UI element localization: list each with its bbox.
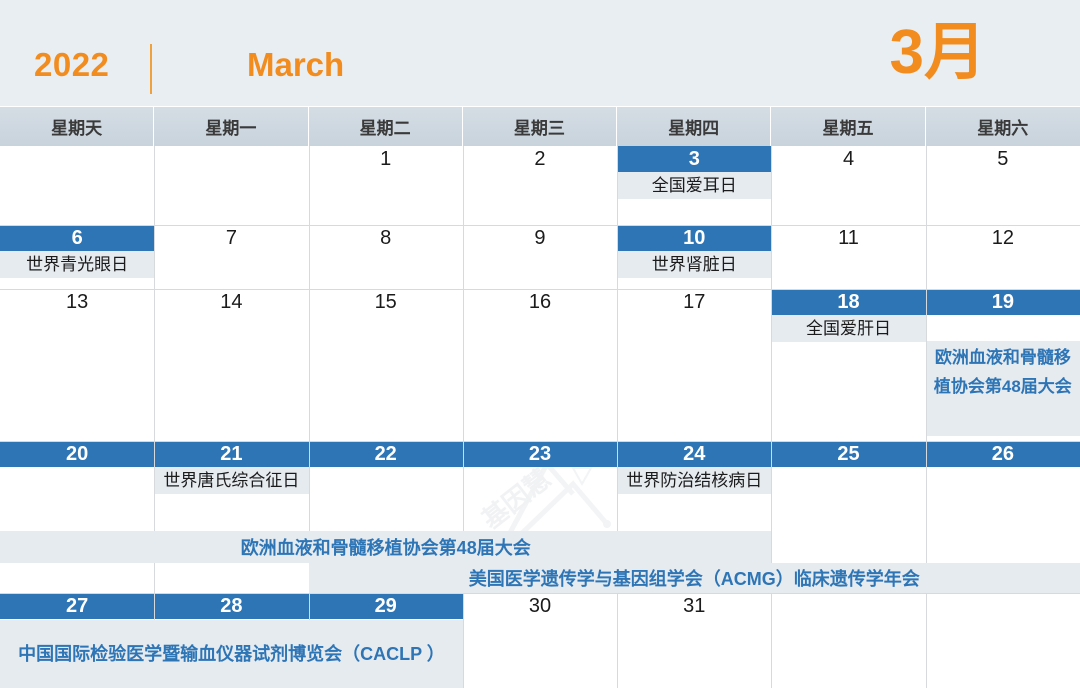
day-cell[interactable]: 7	[154, 225, 308, 289]
day-cell[interactable]: 15	[309, 289, 463, 441]
day-number: 28	[154, 593, 308, 619]
day-number: 31	[617, 593, 771, 619]
day-number: 4	[771, 146, 925, 172]
day-cell[interactable]: 18全国爱肝日	[771, 289, 925, 441]
day-number: 2	[463, 146, 617, 172]
day-cell[interactable]: 9	[463, 225, 617, 289]
column-divider	[771, 146, 772, 688]
day-cell[interactable]: 13	[0, 289, 154, 441]
row-divider	[0, 289, 1080, 290]
day-number: 6	[0, 225, 154, 251]
day-number: 3	[617, 146, 771, 172]
day-cell[interactable]: 11	[771, 225, 925, 289]
weekday-header-3: 星期三	[463, 107, 617, 146]
day-cell[interactable]: 20	[0, 441, 154, 593]
holiday-event-label: 全国爱肝日	[771, 315, 925, 342]
row-divider	[0, 225, 1080, 226]
day-number: 22	[309, 441, 463, 467]
title-year: 2022	[34, 46, 109, 84]
conference-event-label: 欧洲血液和骨髓移植协会第48届大会	[926, 341, 1080, 436]
weekday-header-5: 星期五	[771, 107, 925, 146]
column-divider	[154, 146, 155, 688]
day-cell[interactable]: 17	[617, 289, 771, 441]
day-cell[interactable]	[926, 593, 1080, 688]
day-number: 15	[309, 289, 463, 315]
week-row-1: 6世界青光眼日78910世界肾脏日1112	[0, 225, 1080, 289]
day-cell[interactable]: 31	[617, 593, 771, 688]
day-cell[interactable]: 2	[463, 146, 617, 225]
day-number: 8	[309, 225, 463, 251]
title-month-english: March	[247, 46, 344, 84]
day-cell[interactable]: 3全国爱耳日	[617, 146, 771, 225]
title-month-chinese: 3月	[890, 16, 986, 90]
day-number: 1	[309, 146, 463, 172]
day-number: 25	[771, 441, 925, 467]
weekday-header-1: 星期一	[154, 107, 308, 146]
weekday-header-0: 星期天	[0, 107, 154, 146]
day-number: 5	[926, 146, 1080, 172]
row-divider	[0, 441, 1080, 442]
weekday-header-2: 星期二	[309, 107, 463, 146]
day-number: 11	[771, 225, 925, 251]
day-cell[interactable]: 12	[926, 225, 1080, 289]
day-number: 21	[154, 441, 308, 467]
holiday-event-label: 全国爱耳日	[617, 172, 771, 199]
day-number: 29	[309, 593, 463, 619]
day-cell[interactable]: 1	[309, 146, 463, 225]
column-divider	[309, 146, 310, 688]
multi-day-event-bar[interactable]: 欧洲血液和骨髓移植协会第48届大会	[0, 531, 771, 563]
day-cell[interactable]: 30	[463, 593, 617, 688]
column-divider	[463, 146, 464, 688]
day-number: 23	[463, 441, 617, 467]
multi-day-event-bar[interactable]: 中国国际检验医学暨输血仪器试剂博览会（CACLP ）	[0, 620, 463, 688]
day-number: 13	[0, 289, 154, 315]
day-cell[interactable]: 6世界青光眼日	[0, 225, 154, 289]
week-row-2: 131415161718全国爱肝日19欧洲血液和骨髓移植协会第48届大会	[0, 289, 1080, 441]
day-cell[interactable]: 14	[154, 289, 308, 441]
calendar-page: 2022 March 3月 星期天星期一星期二星期三星期四星期五星期六 基因慧 …	[0, 0, 1080, 688]
weekday-header-6: 星期六	[926, 107, 1080, 146]
day-cell[interactable]	[0, 146, 154, 225]
day-number: 9	[463, 225, 617, 251]
day-cell[interactable]	[771, 593, 925, 688]
day-number: 30	[463, 593, 617, 619]
day-number: 24	[617, 441, 771, 467]
day-cell[interactable]: 4	[771, 146, 925, 225]
day-number: 27	[0, 593, 154, 619]
column-divider	[926, 146, 927, 688]
holiday-event-label: 世界唐氏综合征日	[154, 467, 308, 494]
calendar-title-bar: 2022 March 3月	[0, 0, 1080, 106]
holiday-event-label: 世界青光眼日	[0, 251, 154, 278]
day-number: 26	[926, 441, 1080, 467]
column-divider	[617, 146, 618, 688]
day-number: 17	[617, 289, 771, 315]
day-number: 7	[154, 225, 308, 251]
title-divider	[150, 44, 152, 94]
calendar-grid: 基因慧 123全国爱耳日456世界青光眼日78910世界肾脏日111213141…	[0, 146, 1080, 688]
day-cell[interactable]: 19欧洲血液和骨髓移植协会第48届大会	[926, 289, 1080, 441]
day-cell[interactable]	[154, 146, 308, 225]
day-number: 12	[926, 225, 1080, 251]
day-cell[interactable]: 8	[309, 225, 463, 289]
holiday-event-label: 世界肾脏日	[617, 251, 771, 278]
day-cell[interactable]: 16	[463, 289, 617, 441]
holiday-event-label: 世界防治结核病日	[617, 467, 771, 494]
day-cell[interactable]: 10世界肾脏日	[617, 225, 771, 289]
day-cell[interactable]: 5	[926, 146, 1080, 225]
weekday-header-4: 星期四	[617, 107, 771, 146]
day-number: 10	[617, 225, 771, 251]
day-number: 16	[463, 289, 617, 315]
row-divider	[0, 593, 1080, 594]
weekday-header-row: 星期天星期一星期二星期三星期四星期五星期六	[0, 106, 1080, 146]
day-number: 20	[0, 441, 154, 467]
day-cell[interactable]: 21世界唐氏综合征日	[154, 441, 308, 593]
multi-day-event-bar[interactable]: 美国医学遗传学与基因组学会（ACMG）临床遗传学年会	[309, 563, 1080, 593]
week-row-0: 123全国爱耳日45	[0, 146, 1080, 225]
day-number: 18	[771, 289, 925, 315]
day-number: 19	[926, 289, 1080, 315]
day-number: 14	[154, 289, 308, 315]
